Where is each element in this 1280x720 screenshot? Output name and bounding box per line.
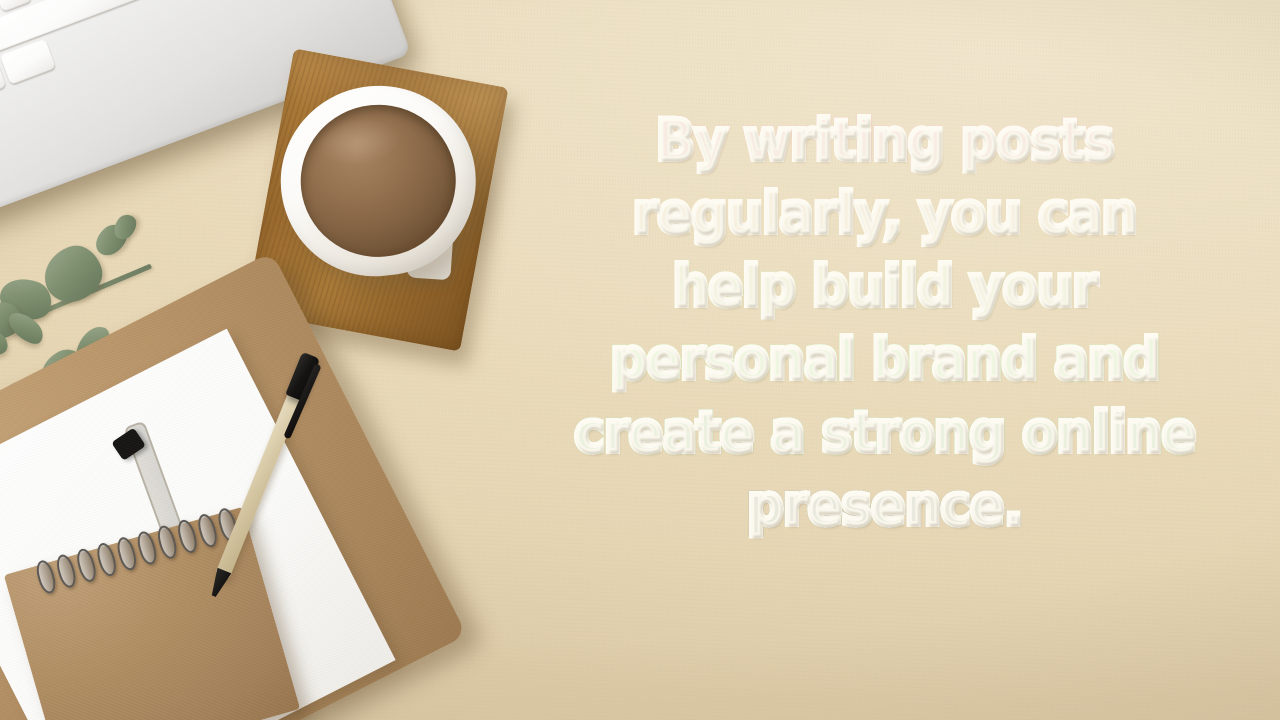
spiral-ring: [54, 553, 79, 590]
quote-overlay: By writing posts regularly, you can help…: [505, 104, 1265, 542]
quote-line-6: presence.: [535, 469, 1234, 542]
quote-line-1: By writing posts: [535, 104, 1234, 177]
quote-line-3: help build your: [535, 250, 1234, 323]
quote-line-5-text: create a strong online: [575, 400, 1196, 464]
quote-line-1-text: By writing posts: [656, 108, 1114, 172]
image-canvas: 4 5 6 7 8 9 0 - = x R T Y U I O P [ ]: [0, 0, 1280, 720]
spiral-ring: [94, 541, 119, 578]
quote-line-5: create a strong online: [535, 396, 1234, 469]
spiral-ring: [155, 524, 180, 561]
quote-line-3-text: help build your: [673, 254, 1097, 318]
quote-line-2-text: regularly, you can: [633, 181, 1137, 245]
coffee-mug: [271, 75, 502, 311]
spiral-ring: [175, 518, 200, 555]
spiral-ring: [135, 529, 160, 566]
quote-line-6-text: presence.: [747, 473, 1022, 537]
spiral-ring: [74, 547, 99, 584]
quote-line-4-text: personal brand and: [611, 327, 1160, 391]
coffee-surface: [293, 97, 463, 264]
quote-line-2: regularly, you can: [535, 177, 1234, 250]
clip-jaw-top: [111, 428, 146, 461]
quote-line-4: personal brand and: [535, 323, 1234, 396]
mug-body: [271, 76, 485, 285]
spiral-ring: [114, 535, 139, 572]
